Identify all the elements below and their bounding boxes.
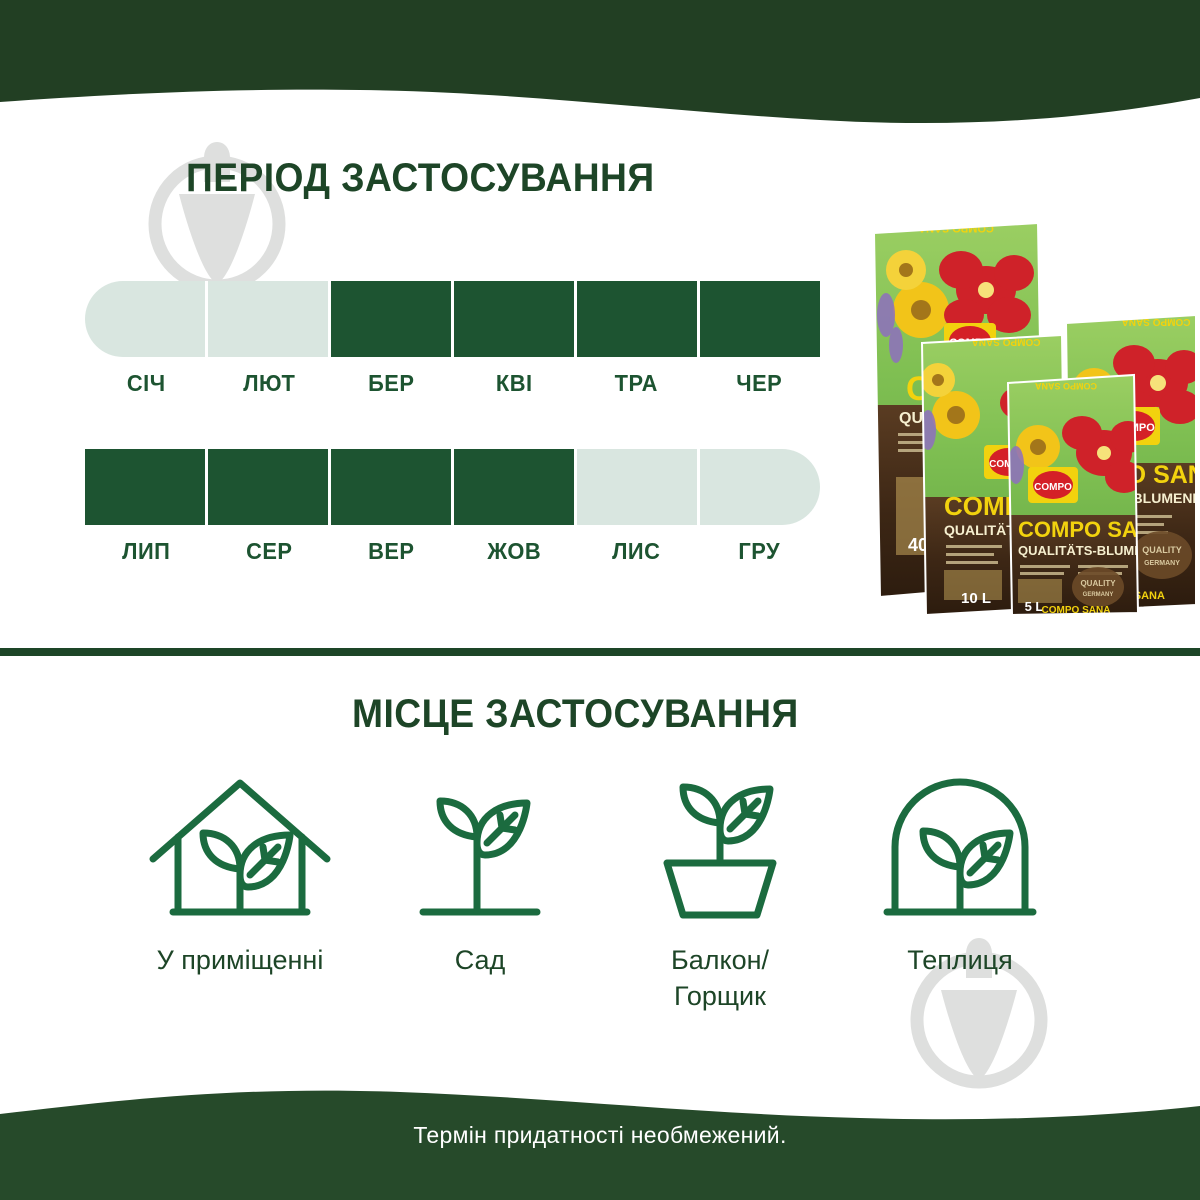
month-cell-cher[interactable] (700, 281, 820, 357)
svg-text:10 L: 10 L (961, 590, 991, 607)
greenhouse-plant-icon (875, 775, 1045, 920)
place-label-garden: Сад (455, 942, 506, 978)
svg-text:COMPO SANA: COMPO SANA (1035, 381, 1098, 391)
month-label-cher: ЧЕР (701, 370, 817, 397)
month-cell-lyut[interactable] (208, 281, 331, 357)
month-label-kvi: КВІ (456, 370, 572, 397)
section-divider (0, 648, 1200, 656)
place-label-indoor: У приміщенні (157, 942, 324, 978)
place-item-garden[interactable]: Сад (360, 775, 600, 1015)
month-label-tra: ТРА (578, 370, 694, 397)
calendar-row-first-half: СІЧ ЛЮТ БЕР КВІ ТРА ЧЕР (85, 281, 820, 397)
place-item-indoor[interactable]: У приміщенні (120, 775, 360, 1015)
month-cell-lyp[interactable] (85, 449, 208, 525)
month-cell-kvi[interactable] (454, 281, 577, 357)
month-label-row: СІЧ ЛЮТ БЕР КВІ ТРА ЧЕР (85, 370, 820, 397)
month-label-ver: ВЕР (333, 538, 449, 565)
house-plant-icon (145, 775, 335, 920)
calendar-row-second-half: ЛИП СЕР ВЕР ЖОВ ЛИС ГРУ (85, 449, 820, 565)
month-label-zhov: ЖОВ (456, 538, 572, 565)
svg-text:GERMANY: GERMANY (1083, 592, 1114, 598)
month-label-ber: БЕР (333, 370, 449, 397)
potted-plant-icon (645, 775, 795, 920)
month-label-lys: ЛИС (578, 538, 694, 565)
month-bar (85, 281, 820, 357)
top-banner-wave (0, 0, 1200, 130)
month-cell-zhov[interactable] (454, 449, 577, 525)
svg-text:GERMANY: GERMANY (1144, 560, 1180, 567)
page-title-period: ПЕРІОД ЗАСТОСУВАННЯ (186, 156, 655, 201)
month-cell-hru[interactable] (700, 449, 820, 525)
month-cell-sich[interactable] (85, 281, 208, 357)
month-cell-ber[interactable] (331, 281, 454, 357)
place-item-greenhouse[interactable]: Теплиця (840, 775, 1080, 1015)
svg-text:QUALITY: QUALITY (1080, 579, 1116, 588)
svg-text:QUALITY: QUALITY (1142, 545, 1182, 555)
footer-note: Термін придатності необмежений. (0, 1122, 1200, 1149)
place-item-balcony-pot[interactable]: Балкон/ Горщик (600, 775, 840, 1015)
month-bar (85, 449, 820, 525)
infographic-canvas: ПЕРІОД ЗАСТОСУВАННЯ СІЧ ЛЮТ БЕР КВІ ТРА … (0, 0, 1200, 1200)
month-cell-ver[interactable] (331, 449, 454, 525)
month-label-sich: СІЧ (88, 370, 204, 397)
month-cell-tra[interactable] (577, 281, 700, 357)
place-of-use-list: У приміщенні Сад (120, 775, 1080, 1015)
garden-sprout-icon (405, 775, 555, 920)
svg-text:COMPO: COMPO (1034, 482, 1072, 493)
place-label-greenhouse: Теплиця (907, 942, 1013, 978)
month-cell-lys[interactable] (577, 449, 700, 525)
place-label-balcony-pot: Балкон/ Горщик (671, 942, 769, 1015)
month-label-lyut: ЛЮТ (211, 370, 327, 397)
page-title-place: МІСЦЕ ЗАСТОСУВАННЯ (352, 692, 799, 737)
month-label-row: ЛИП СЕР ВЕР ЖОВ ЛИС ГРУ (85, 538, 820, 565)
month-cell-ser[interactable] (208, 449, 331, 525)
month-label-lyp: ЛИП (88, 538, 204, 565)
product-bags-image: COMPO CO QUALI 40 L COMPO SANA COMPO PO … (866, 215, 1196, 615)
month-label-ser: СЕР (211, 538, 327, 565)
month-label-hru: ГРУ (701, 538, 817, 565)
